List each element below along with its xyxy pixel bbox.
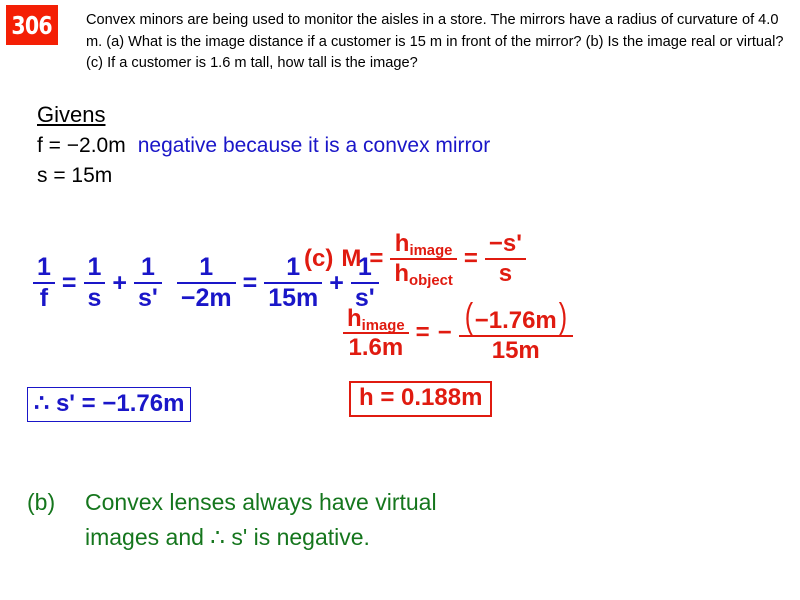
image-distance-value: −1.76m	[475, 307, 557, 334]
subscript-image: image	[362, 318, 405, 334]
h-symbol: h	[394, 260, 409, 287]
denominator: hobject	[390, 261, 456, 287]
magnification-symbol: M	[341, 245, 361, 273]
equals-sign-2: =	[464, 245, 478, 273]
fraction-one-over-s: 1 s	[84, 254, 106, 312]
denominator: s	[84, 285, 106, 312]
fraction-minus-1-76m-over-15m: (−1.76m) 15m	[459, 303, 573, 364]
fraction-h-image-over-1-6m: himage 1.6m	[343, 306, 409, 362]
numerator: 1	[195, 254, 217, 281]
equals-sign: =	[243, 269, 258, 298]
denominator: s'	[134, 285, 162, 312]
fraction-h-image-over-h-object: himage hobject	[390, 231, 456, 287]
magnification-substituted-row: himage 1.6m = − (−1.76m) 15m	[340, 303, 576, 364]
problem-statement: Convex minors are being used to monitor …	[86, 10, 786, 75]
denominator: 1.6m	[344, 335, 407, 361]
numerator: himage	[391, 231, 457, 257]
subscript-image: image	[409, 243, 452, 259]
denominator: s	[495, 261, 516, 287]
part-c-label: (c)	[304, 245, 333, 273]
denominator: f	[36, 285, 52, 312]
numerator: −s'	[485, 231, 526, 257]
given-focal-length-value: f = −2.0m	[37, 134, 126, 157]
minus-sign: −	[438, 319, 452, 347]
denominator: 15m	[264, 285, 322, 312]
numerator: 1	[137, 254, 159, 281]
h-symbol: h	[395, 230, 410, 257]
denominator: 15m	[488, 338, 544, 364]
numerator: 1	[84, 254, 106, 281]
magnification-row: (c) M = himage hobject = −s' s	[300, 231, 529, 287]
equals-sign: =	[416, 319, 430, 347]
fraction-one-over-s-prime: 1 s'	[134, 254, 162, 312]
subscript-object: object	[409, 273, 453, 289]
equals-sign: =	[369, 245, 383, 273]
givens-heading: Givens	[37, 102, 105, 128]
image-distance-answer-box: ∴ s' = −1.76m	[27, 387, 191, 422]
slide-number-badge: 306	[6, 5, 58, 45]
right-paren: )	[559, 303, 567, 328]
given-focal-length: f = −2.0mnegative because it is a convex…	[37, 134, 490, 158]
denominator: −2m	[177, 285, 236, 312]
slide-number-text: 306	[12, 13, 52, 38]
h-symbol: h	[347, 305, 362, 332]
magnification-substituted-equation: himage 1.6m = − (−1.76m) 15m	[340, 303, 576, 364]
equals-sign: =	[62, 269, 77, 298]
magnification-equation-block: (c) M = himage hobject = −s' s	[300, 231, 529, 287]
left-paren: (	[465, 303, 473, 328]
fraction-one-over-f: 1 f	[33, 254, 55, 312]
numerator: 1	[33, 254, 55, 281]
given-object-distance: s = 15m	[37, 164, 112, 188]
image-height-answer-box: h = 0.188m	[349, 381, 492, 417]
fraction-minus-s-prime-over-s: −s' s	[485, 231, 526, 287]
plus-sign: +	[112, 269, 127, 298]
fraction-one-over-minus-2m: 1 −2m	[177, 254, 236, 312]
mirror-equation-general: 1 f = 1 s + 1 s'	[30, 254, 165, 312]
part-b-answer-line2: images and ∴ s' is negative.	[85, 524, 370, 551]
numerator: himage	[343, 306, 409, 332]
part-b-answer-line1: Convex lenses always have virtual	[85, 489, 437, 516]
part-b-label: (b)	[27, 489, 55, 516]
given-focal-length-note: negative because it is a convex mirror	[138, 134, 491, 157]
numerator: (−1.76m)	[459, 303, 573, 334]
